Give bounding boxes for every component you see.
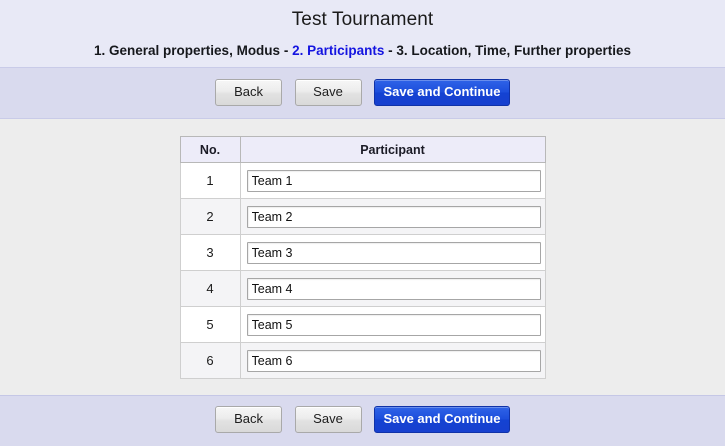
back-button[interactable]: Back	[215, 79, 282, 106]
participants-page: Test Tournament 1. General properties, M…	[0, 0, 725, 437]
column-header-no: No.	[180, 137, 240, 163]
breadcrumb-separator-2: -	[388, 43, 393, 58]
breadcrumb-step-1[interactable]: 1. General properties, Modus	[94, 43, 280, 58]
row-number: 4	[180, 271, 240, 307]
participant-input-3[interactable]	[247, 242, 541, 264]
participant-cell	[240, 235, 545, 271]
participant-cell	[240, 307, 545, 343]
participant-input-1[interactable]	[247, 170, 541, 192]
save-button-bottom[interactable]: Save	[295, 406, 362, 433]
table-row: 4	[180, 271, 545, 307]
toolbar-top: Back Save Save and Continue	[0, 68, 725, 119]
row-number: 1	[180, 163, 240, 199]
back-button-bottom[interactable]: Back	[215, 406, 282, 433]
participants-table: No. Participant 1 2	[180, 136, 546, 379]
participant-cell	[240, 163, 545, 199]
breadcrumb-step-2[interactable]: 2. Participants	[292, 43, 384, 58]
page-header: Test Tournament 1. General properties, M…	[0, 0, 725, 68]
table-row: 2	[180, 199, 545, 235]
save-and-continue-button-bottom[interactable]: Save and Continue	[374, 406, 510, 433]
breadcrumb-step-3[interactable]: 3. Location, Time, Further properties	[396, 43, 631, 58]
row-number: 3	[180, 235, 240, 271]
save-button[interactable]: Save	[295, 79, 362, 106]
table-row: 6	[180, 343, 545, 379]
row-number: 2	[180, 199, 240, 235]
table-row: 3	[180, 235, 545, 271]
participant-input-5[interactable]	[247, 314, 541, 336]
column-header-participant: Participant	[240, 137, 545, 163]
table-body: 1 2 3	[180, 163, 545, 379]
row-number: 5	[180, 307, 240, 343]
table-header-row: No. Participant	[180, 137, 545, 163]
toolbar-bottom: Back Save Save and Continue	[0, 395, 725, 446]
participant-cell	[240, 199, 545, 235]
participant-cell	[240, 343, 545, 379]
page-title: Test Tournament	[0, 9, 725, 31]
table-head: No. Participant	[180, 137, 545, 163]
breadcrumb: 1. General properties, Modus - 2. Partic…	[0, 43, 725, 59]
participant-input-4[interactable]	[247, 278, 541, 300]
breadcrumb-separator-1: -	[284, 43, 289, 58]
save-and-continue-button[interactable]: Save and Continue	[374, 79, 510, 106]
participants-table-wrapper: No. Participant 1 2	[180, 136, 546, 379]
participant-input-2[interactable]	[247, 206, 541, 228]
participant-input-6[interactable]	[247, 350, 541, 372]
content-area: No. Participant 1 2	[0, 119, 725, 395]
table-row: 1	[180, 163, 545, 199]
table-row: 5	[180, 307, 545, 343]
row-number: 6	[180, 343, 240, 379]
participant-cell	[240, 271, 545, 307]
